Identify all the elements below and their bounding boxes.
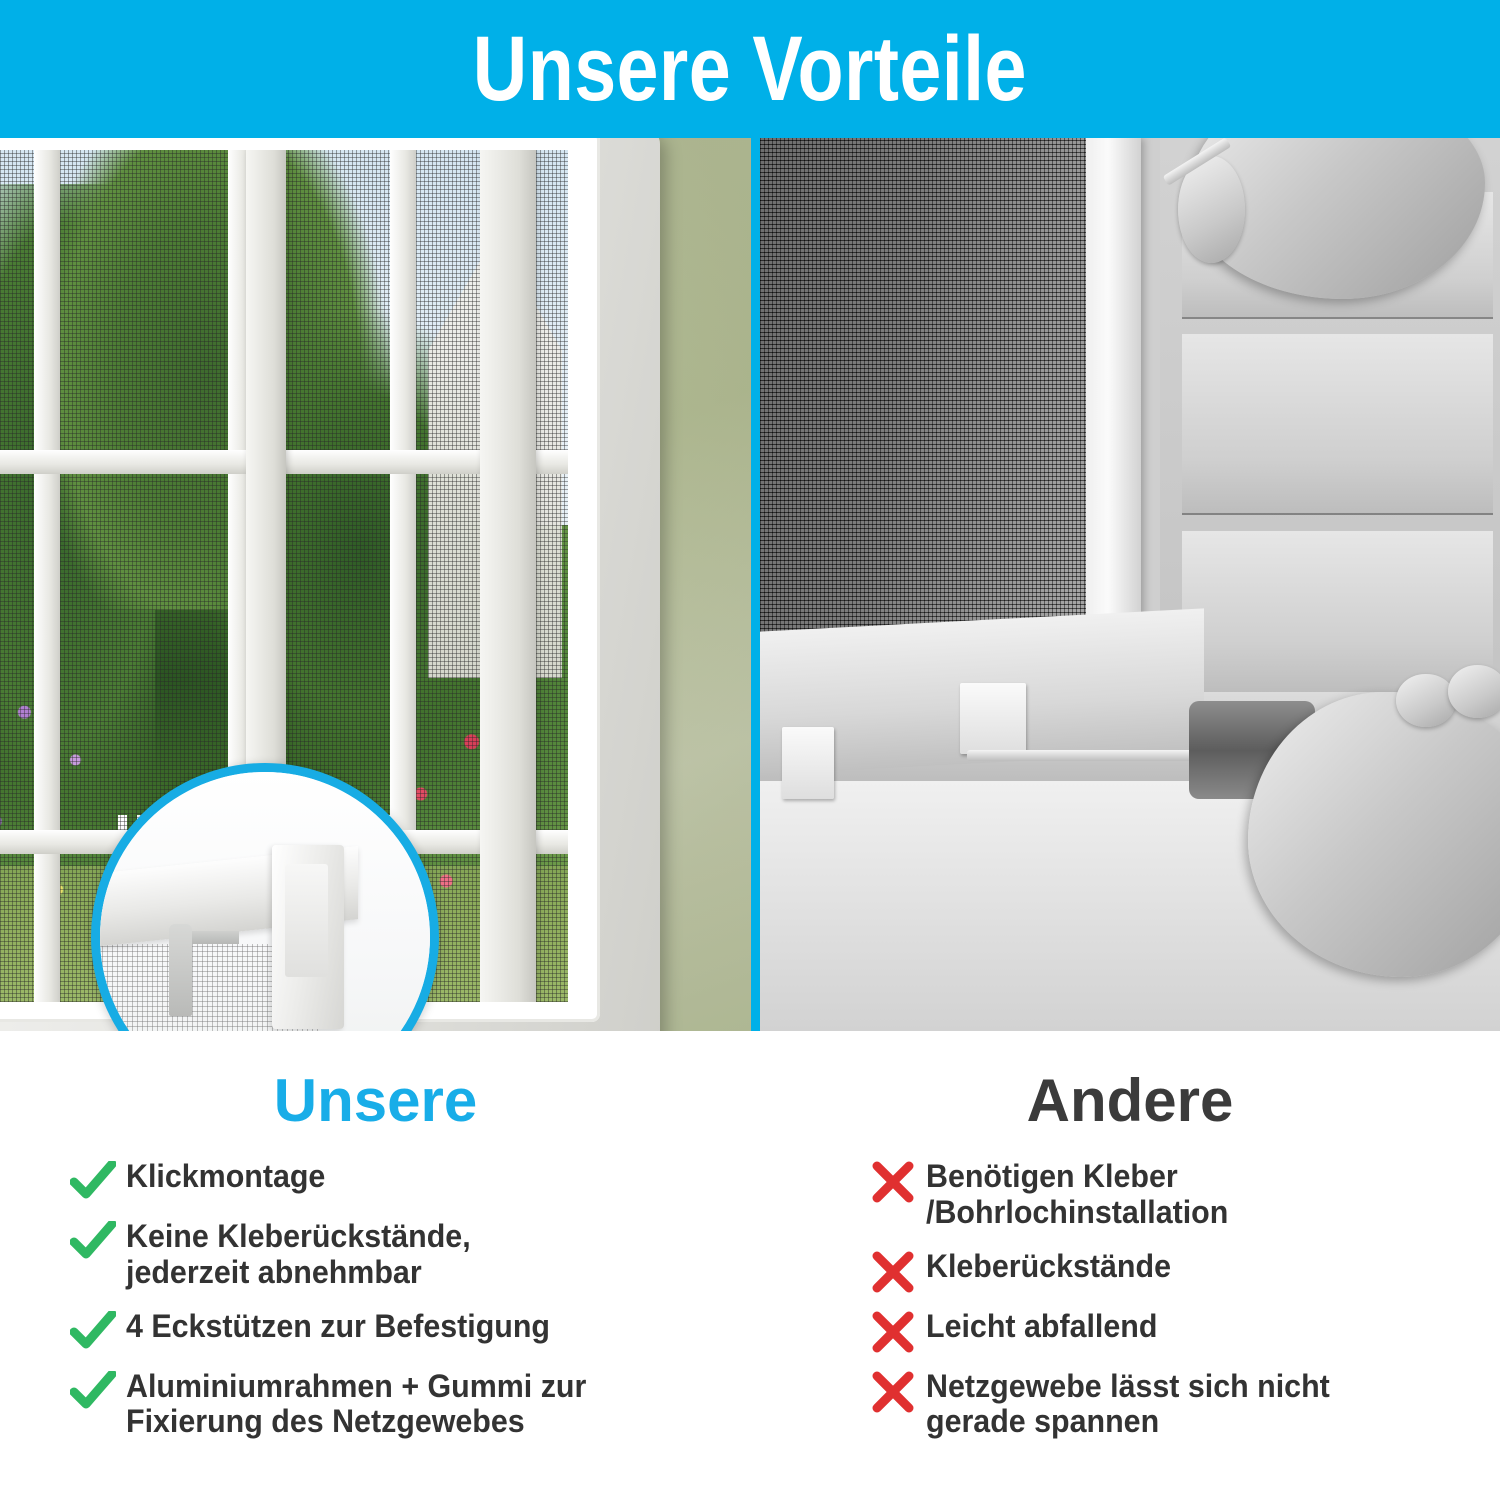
comparison-infographic: Unsere Vorteile xyxy=(0,0,1500,1500)
list-item-label: Keine Kleberückstände, jederzeit abnehmb… xyxy=(126,1219,471,1291)
corner-bracket-right xyxy=(960,683,1027,754)
list-item-label: Kleberückstände xyxy=(926,1249,1171,1285)
corner-bracket-left xyxy=(782,727,834,798)
corner-bracket-detail xyxy=(91,763,439,1031)
list-item: Kleberückstände xyxy=(870,1249,1500,1291)
list-item-label: Benötigen Kleber /Bohrlochinstallation xyxy=(926,1159,1228,1231)
cross-icon xyxy=(870,1251,916,1293)
cross-icon xyxy=(870,1161,916,1203)
ours-column: Unsere Klickmontage Keine Kleberückständ… xyxy=(0,1031,751,1500)
drill-installation-photo xyxy=(760,138,1500,1031)
ours-bullet-list: Klickmontage Keine Kleberückstände, jede… xyxy=(70,1159,751,1440)
header-bar: Unsere Vorteile xyxy=(0,0,1500,138)
list-item: 4 Eckstützen zur Befestigung xyxy=(70,1309,751,1351)
detail-click-bracket xyxy=(169,924,192,1016)
list-item: Netzgewebe lässt sich nicht gerade spann… xyxy=(870,1369,1500,1441)
ours-heading: Unsere xyxy=(0,1071,751,1131)
others-column: Andere Benötigen Kleber /Bohrlochinstall… xyxy=(760,1031,1500,1500)
wall-block-2 xyxy=(1182,334,1493,513)
mullion-vertical-1 xyxy=(34,150,60,1002)
wall-block-3 xyxy=(1182,531,1493,692)
window-with-insect-screen-photo xyxy=(0,138,751,1031)
others-heading: Andere xyxy=(760,1071,1500,1131)
grayscale-scene xyxy=(760,138,1500,1031)
check-icon xyxy=(70,1161,116,1203)
page-title: Unsere Vorteile xyxy=(473,23,1027,115)
list-item: Keine Kleberückstände, jederzeit abnehmb… xyxy=(70,1219,751,1291)
screwdriver-shaft xyxy=(967,750,1211,761)
check-icon xyxy=(70,1371,116,1413)
list-item: Leicht abfallend xyxy=(870,1309,1500,1351)
list-item: Klickmontage xyxy=(70,1159,751,1201)
list-item: Aluminiumrahmen + Gummi zur Fixierung de… xyxy=(70,1369,751,1441)
list-item-label: Leicht abfallend xyxy=(926,1309,1157,1345)
check-icon xyxy=(70,1221,116,1263)
list-item-label: Klickmontage xyxy=(126,1159,325,1195)
comparison-section: Unsere Klickmontage Keine Kleberückständ… xyxy=(0,1031,1500,1500)
lower-knuckle-2 xyxy=(1448,665,1500,719)
photo-row xyxy=(0,138,1500,1031)
list-item: Benötigen Kleber /Bohrlochinstallation xyxy=(870,1159,1500,1231)
window-sash-right xyxy=(480,150,536,1002)
others-bullet-list: Benötigen Kleber /Bohrlochinstallation K… xyxy=(870,1159,1500,1440)
lower-knuckle-1 xyxy=(1396,674,1455,728)
check-icon xyxy=(70,1311,116,1353)
list-item-label: Aluminiumrahmen + Gummi zur Fixierung de… xyxy=(126,1369,586,1441)
cross-icon xyxy=(870,1311,916,1353)
list-item-label: Netzgewebe lässt sich nicht gerade spann… xyxy=(926,1369,1330,1441)
cross-icon xyxy=(870,1371,916,1413)
list-item-label: 4 Eckstützen zur Befestigung xyxy=(126,1309,550,1345)
detail-corner-inner xyxy=(285,864,328,976)
